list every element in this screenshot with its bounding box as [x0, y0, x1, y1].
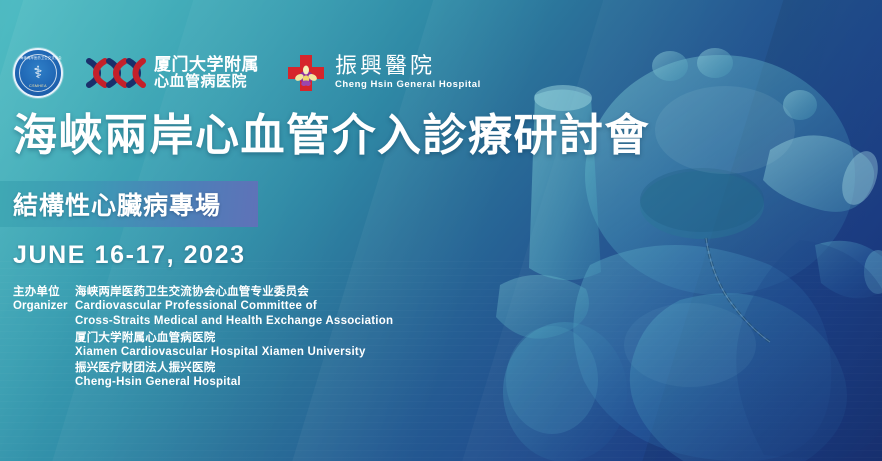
cheng-hsin-name-en: Cheng Hsin General Hospital: [335, 80, 481, 90]
organizer-block: 主办单位 Organizer 海峡两岸医药卫生交流协会心血管专业委员会 Card…: [13, 284, 393, 390]
cheng-hsin-logo-text: 振興醫院 Cheng Hsin General Hospital: [335, 55, 481, 91]
anatomical-heart-illustration: [470, 0, 882, 461]
seal-ring-text: 海峡两岸医药卫生交流协会: [20, 57, 56, 60]
organizer-line-1: Cardiovascular Professional Committee of: [75, 299, 393, 314]
subtitle-band: 結構性心臟病專場: [0, 181, 258, 227]
organizer-line-6: Cheng-Hsin General Hospital: [75, 375, 393, 390]
event-date: JUNE 16-17, 2023: [13, 241, 246, 270]
organizer-values: 海峡两岸医药卫生交流协会心血管专业委员会 Cardiovascular Prof…: [75, 284, 393, 390]
xmu-logo-text: 厦门大学附属 心血管病医院: [154, 56, 259, 90]
seal-badge: 海峡两岸医药卫生交流协会 ⚕ CSMHEA: [13, 48, 63, 98]
organizer-line-4: Xiamen Cardiovascular Hospital Xiamen Un…: [75, 345, 393, 360]
seal-sub-text: CSMHEA: [20, 84, 56, 88]
organizer-line-2: Cross-Straits Medical and Health Exchang…: [75, 314, 393, 329]
conference-poster: 海峡两岸医药卫生交流协会 ⚕ CSMHEA 厦门大学附属 心血管: [0, 0, 882, 461]
xiamen-cardiovascular-hospital-logo: 厦门大学附属 心血管病医院: [85, 46, 259, 100]
organizer-line-0: 海峡两岸医药卫生交流协会心血管专业委员会: [75, 284, 393, 299]
logo-row: 海峡两岸医药卫生交流协会 ⚕ CSMHEA 厦门大学附属 心血管: [13, 46, 481, 100]
poster-title: 海峽兩岸心血管介入診療研討會: [13, 112, 650, 160]
organizer-labels: 主办单位 Organizer: [13, 284, 75, 314]
organizer-label-en: Organizer: [13, 299, 75, 314]
organizer-label-cn: 主办单位: [13, 284, 75, 299]
cheng-hsin-general-hospital-logo: 振興醫院 Cheng Hsin General Hospital: [285, 46, 481, 100]
cross-straits-association-seal: 海峡两岸医药卫生交流协会 ⚕ CSMHEA: [13, 46, 63, 100]
organizer-line-5: 振兴医疗财团法人振兴医院: [75, 360, 393, 375]
dna-helix-icon: [85, 56, 147, 90]
poster-subtitle: 結構性心臟病專場: [13, 186, 221, 222]
organizer-line-3: 厦门大学附属心血管病医院: [75, 330, 393, 345]
red-cross-orchid-icon: [285, 52, 327, 94]
caduceus-icon: ⚕: [33, 64, 42, 81]
seal-inner-ring: 海峡两岸医药卫生交流协会 ⚕ CSMHEA: [19, 54, 57, 92]
cheng-hsin-name-cn: 振興醫院: [335, 55, 481, 79]
xmu-logo-line2: 心血管病医院: [154, 74, 259, 90]
